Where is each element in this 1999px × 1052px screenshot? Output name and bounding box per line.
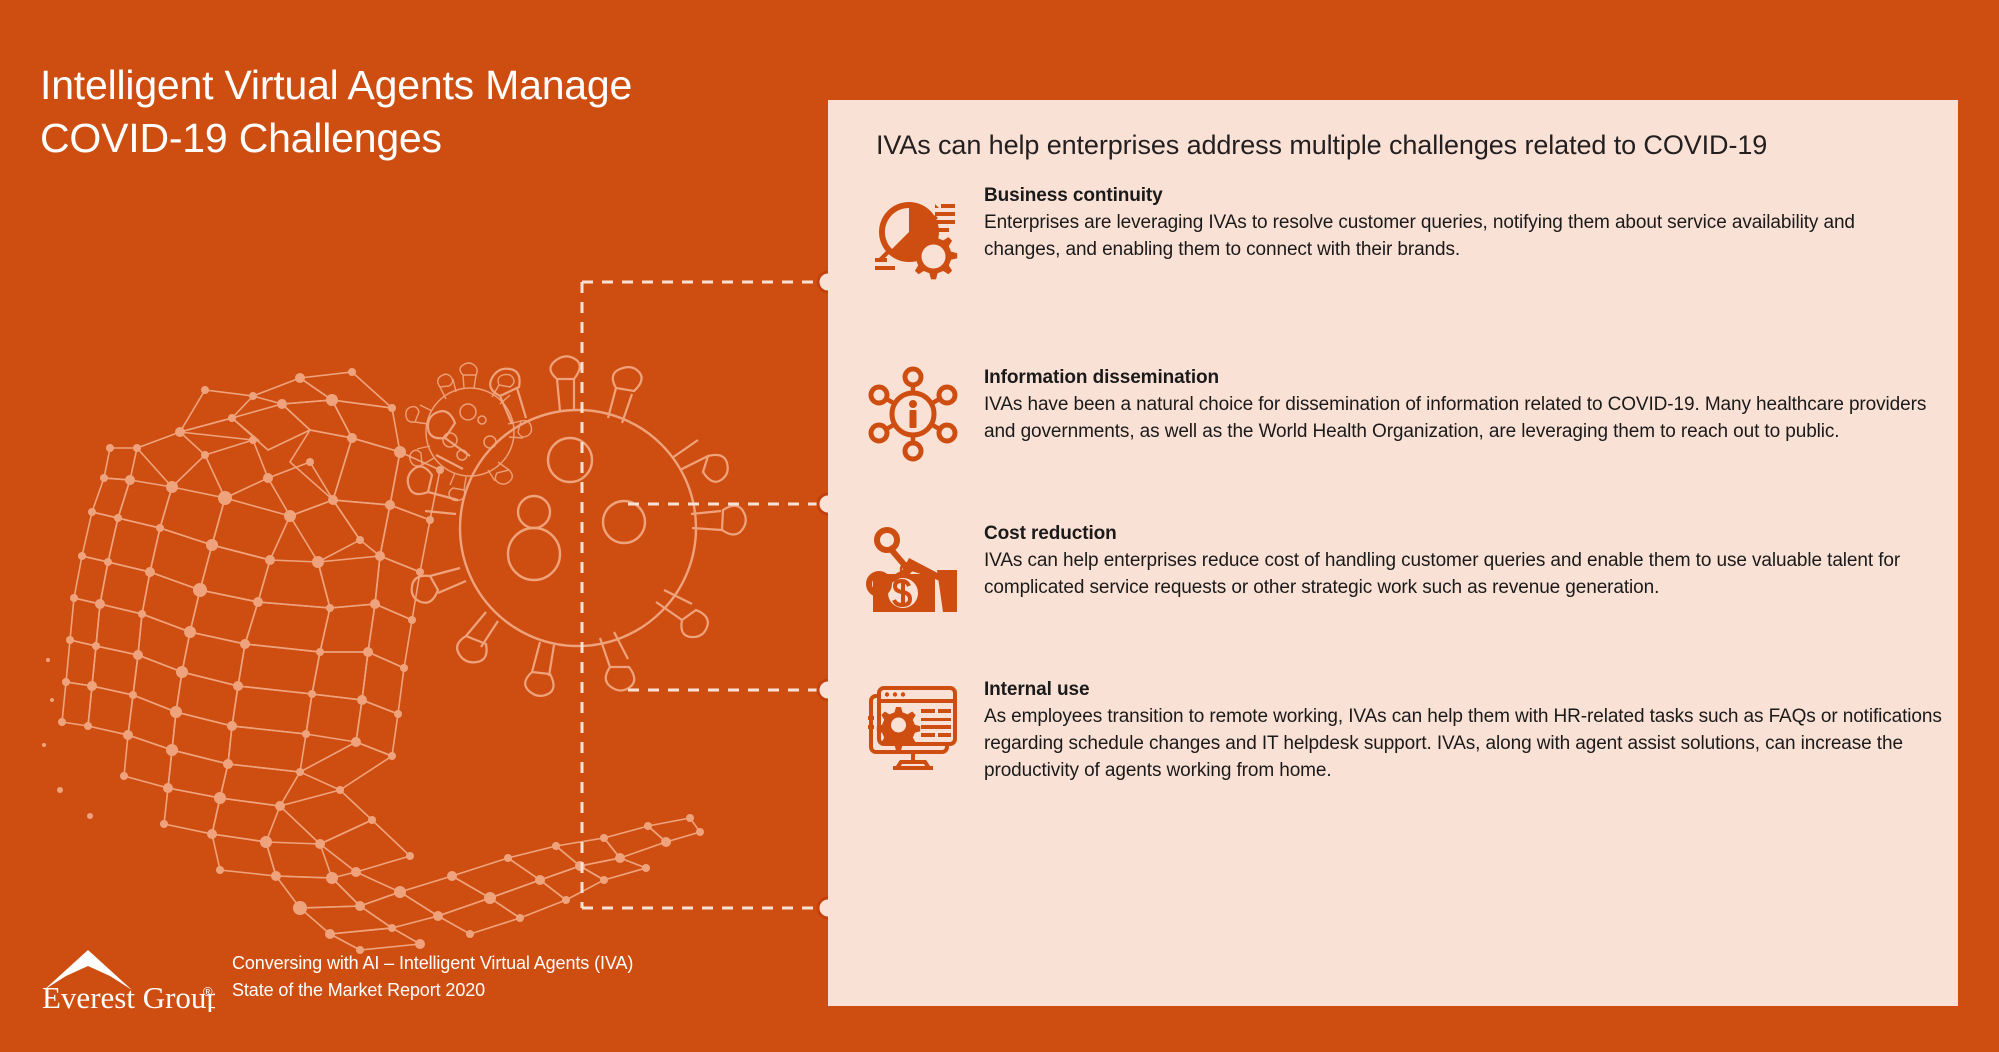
- challenge-body: As employees transition to remote workin…: [984, 704, 1948, 785]
- logo-wordmark: Everest Group: [42, 980, 215, 1012]
- challenge-text: Business continuity Enterprises are leve…: [972, 184, 1958, 264]
- desktop-monitor-gear-icon: [854, 678, 972, 796]
- challenge-title: Information dissemination: [984, 366, 1936, 390]
- challenge-title: Business continuity: [984, 184, 1928, 208]
- challenge-body: Enterprises are leveraging IVAs to resol…: [984, 210, 1928, 264]
- information-network-icon: [854, 366, 972, 484]
- pie-chart-gear-icon: [854, 184, 972, 302]
- challenge-text: Cost reduction IVAs can help enterprises…: [972, 522, 1958, 602]
- page-title: Intelligent Virtual Agents Manage COVID-…: [40, 59, 800, 164]
- challenge-item-cost-reduction: Cost reduction IVAs can help enterprises…: [828, 522, 1958, 640]
- window-dots: [885, 692, 905, 696]
- challenge-text: Information dissemination IVAs have been…: [972, 366, 1958, 446]
- challenge-text: Internal use As employees transition to …: [972, 678, 1958, 785]
- coronavirus-particle-small: [406, 363, 532, 501]
- info-letter: [909, 400, 917, 428]
- footer-caption: Conversing with AI – Intelligent Virtual…: [232, 950, 633, 1004]
- challenge-list: Business continuity Enterprises are leve…: [828, 178, 1958, 796]
- challenges-panel: IVAs can help enterprises address multip…: [828, 100, 1958, 1006]
- challenge-item-information-dissemination: Information dissemination IVAs have been…: [828, 366, 1958, 484]
- registered-mark: ®: [203, 984, 213, 999]
- coronavirus-particle-large: [408, 356, 746, 695]
- panel-heading: IVAs can help enterprises address multip…: [876, 130, 1767, 161]
- infographic-canvas: Intelligent Virtual Agents Manage COVID-…: [0, 0, 1999, 1047]
- footer: Everest Group ® Conversing with AI – Int…: [40, 938, 740, 1028]
- challenge-body: IVAs can help enterprises reduce cost of…: [984, 548, 1936, 602]
- challenge-title: Cost reduction: [984, 522, 1936, 546]
- neural-network-head-profile: [42, 368, 704, 954]
- challenge-title: Internal use: [984, 678, 1948, 702]
- challenge-body: IVAs have been a natural choice for diss…: [984, 392, 1936, 446]
- challenge-item-internal-use: Internal use As employees transition to …: [828, 678, 1958, 796]
- challenge-item-business-continuity: Business continuity Enterprises are leve…: [828, 184, 1958, 302]
- scissors-cutting-money-icon: [854, 522, 972, 640]
- everest-group-logo: Everest Group ®: [40, 942, 215, 1012]
